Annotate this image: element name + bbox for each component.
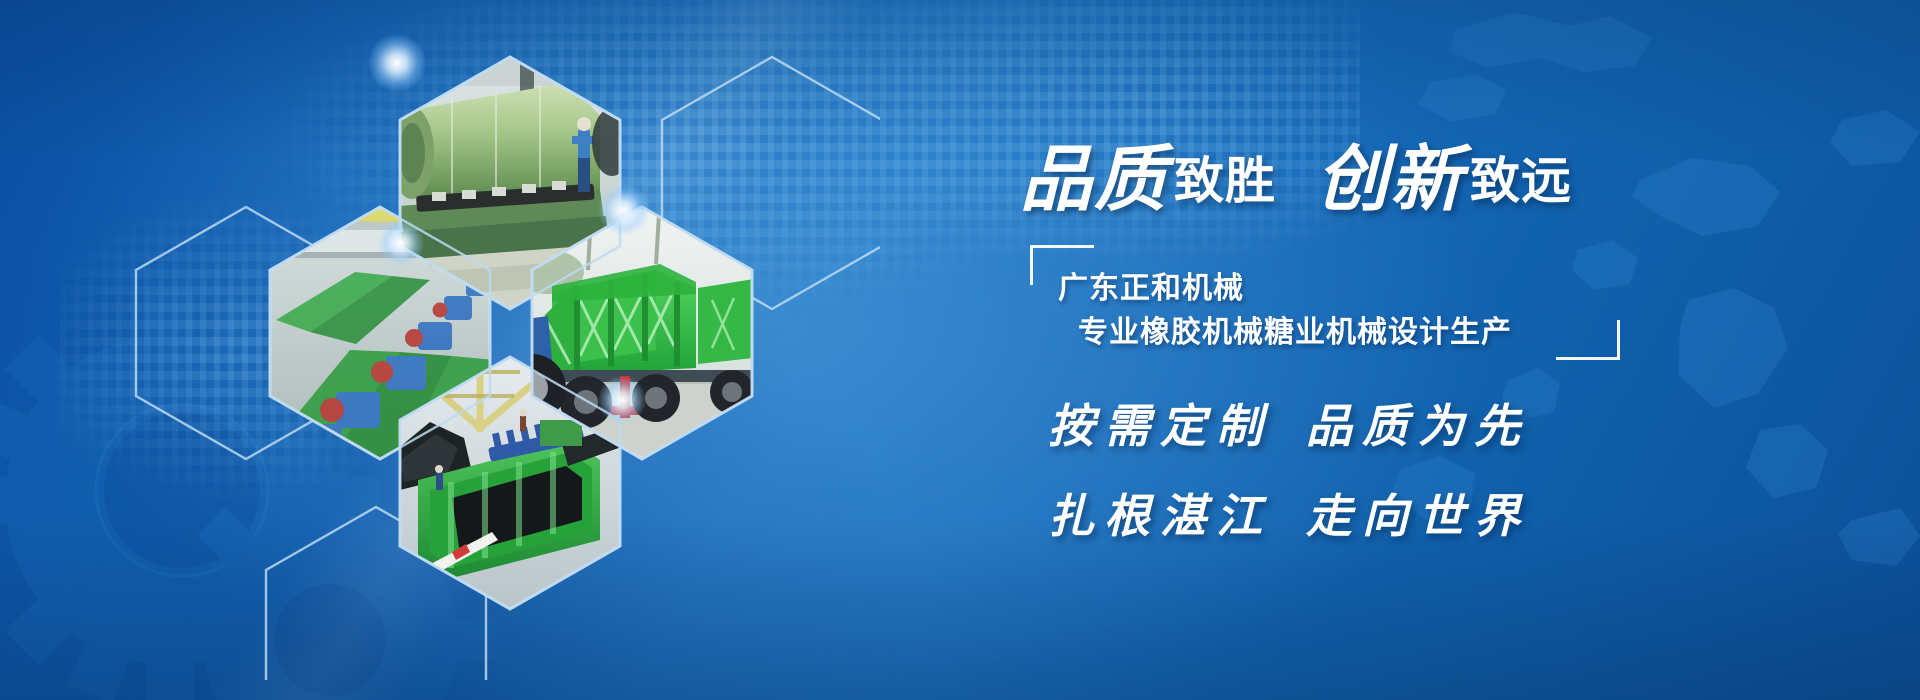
subtitle-block: 广东正和机械 专业橡胶机械糖业机械设计生产	[1030, 245, 1620, 360]
headline-part1-primary: 品质	[1020, 136, 1168, 221]
hexagon-photo-cluster	[100, 20, 880, 680]
banner-text-block: 品质致胜创新致远 广东正和机械 专业橡胶机械糖业机械设计生产 按需定制品质为先 …	[1020, 120, 1880, 640]
bracket-bottom-right-icon	[1556, 320, 1620, 360]
subtitle-line-2: 专业橡胶机械糖业机械设计生产	[1078, 307, 1512, 351]
headline-part2-primary: 创新	[1316, 136, 1464, 221]
subtitle-line-1: 广东正和机械	[1058, 263, 1244, 307]
headline-part2-secondary: 致远	[1470, 152, 1572, 210]
slogan-block: 按需定制品质为先 扎根湛江走向世界	[1048, 390, 1530, 570]
headline: 品质致胜创新致远	[1020, 120, 1572, 225]
slogan-row-2: 扎根湛江走向世界	[1048, 480, 1530, 546]
slogan-1-right: 品质为先	[1306, 399, 1530, 453]
headline-part1-secondary: 致胜	[1174, 152, 1276, 210]
slogan-row-1: 按需定制品质为先	[1048, 390, 1530, 456]
marketing-banner: 品质致胜创新致远 广东正和机械 专业橡胶机械糖业机械设计生产 按需定制品质为先 …	[0, 0, 1920, 700]
slogan-2-left: 扎根湛江	[1048, 489, 1272, 543]
slogan-1-left: 按需定制	[1048, 399, 1272, 453]
slogan-2-right: 走向世界	[1306, 489, 1530, 543]
